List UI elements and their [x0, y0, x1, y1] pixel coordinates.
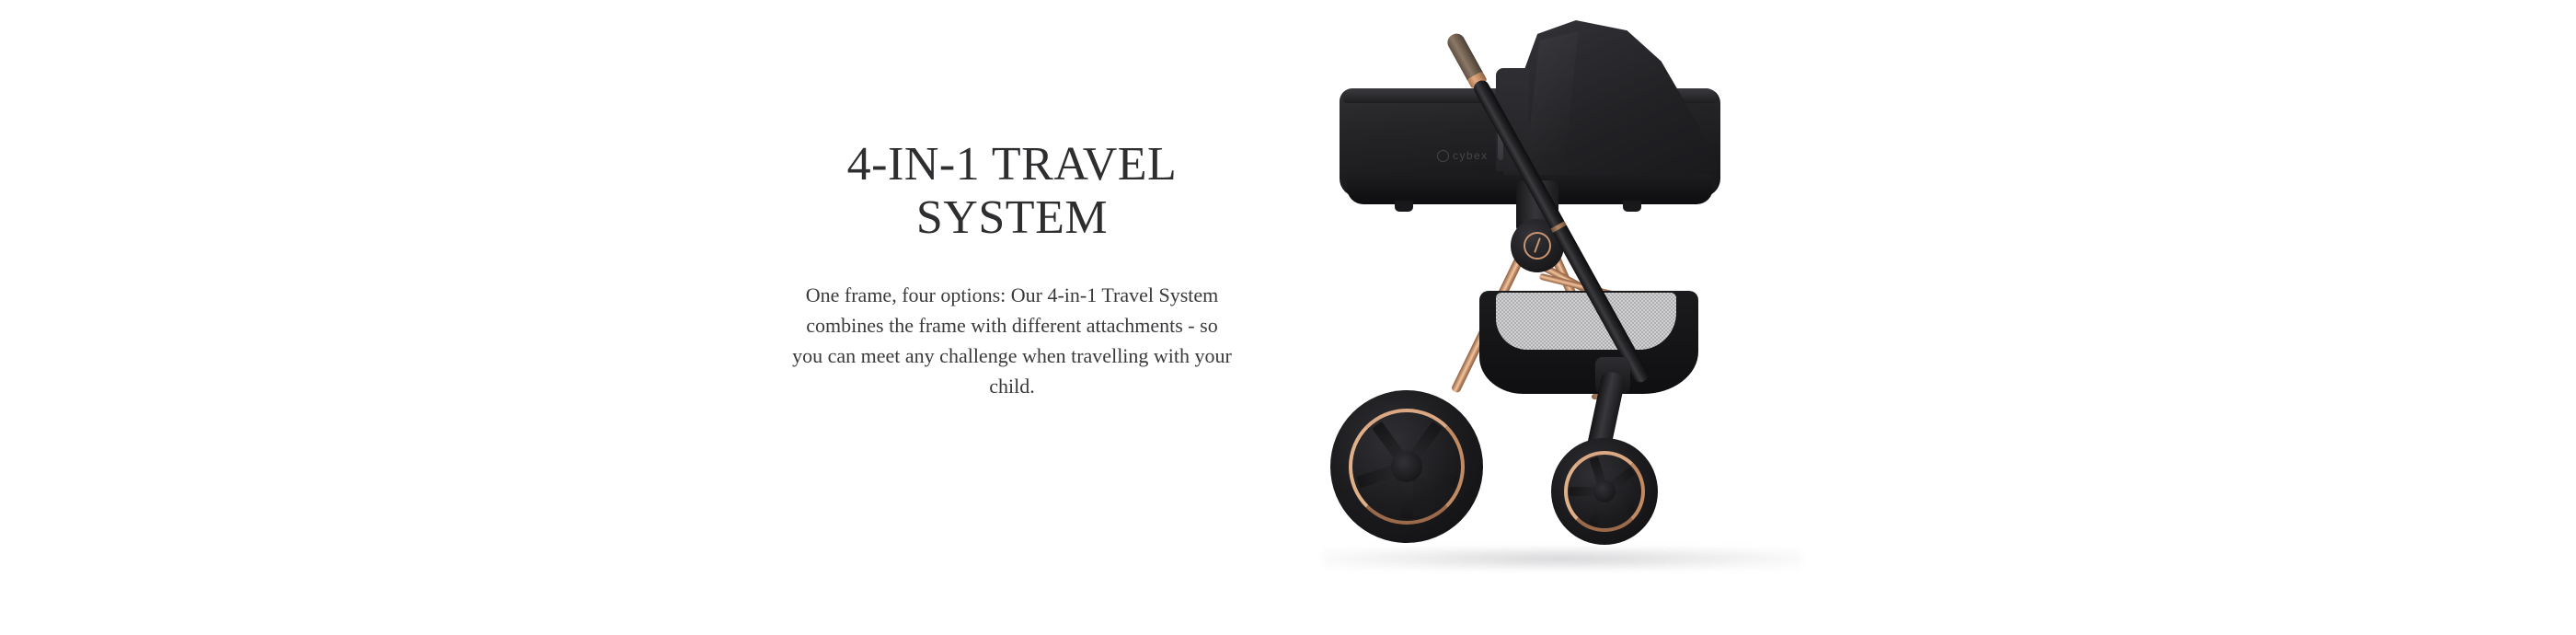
promo-banner: 4-IN-1 TRAVEL SYSTEM One frame, four opt…: [0, 0, 2576, 635]
rear-wheel: [1330, 390, 1483, 543]
brand-logo: cybex: [1437, 149, 1489, 162]
wheel-hub-cap: [1391, 451, 1422, 482]
front-wheel: [1551, 438, 1658, 545]
brand-wordmark: cybex: [1453, 149, 1489, 162]
copy-block: 4-IN-1 TRAVEL SYSTEM One frame, four opt…: [791, 138, 1233, 401]
carrycot-foot: [1623, 201, 1641, 212]
basket-mesh: [1496, 293, 1676, 350]
carrycot-foot: [1395, 201, 1413, 212]
cybex-logo-icon: [1437, 150, 1449, 162]
page-title: 4-IN-1 TRAVEL SYSTEM: [791, 138, 1233, 245]
cybex-hub-mark: [1524, 232, 1551, 260]
body-description: One frame, four options: Our 4-in-1 Trav…: [791, 245, 1233, 401]
wheel-hub-cap: [1593, 480, 1616, 502]
product-image: cybex: [1306, 0, 1822, 635]
ground-shadow-icon: [1323, 547, 1801, 571]
